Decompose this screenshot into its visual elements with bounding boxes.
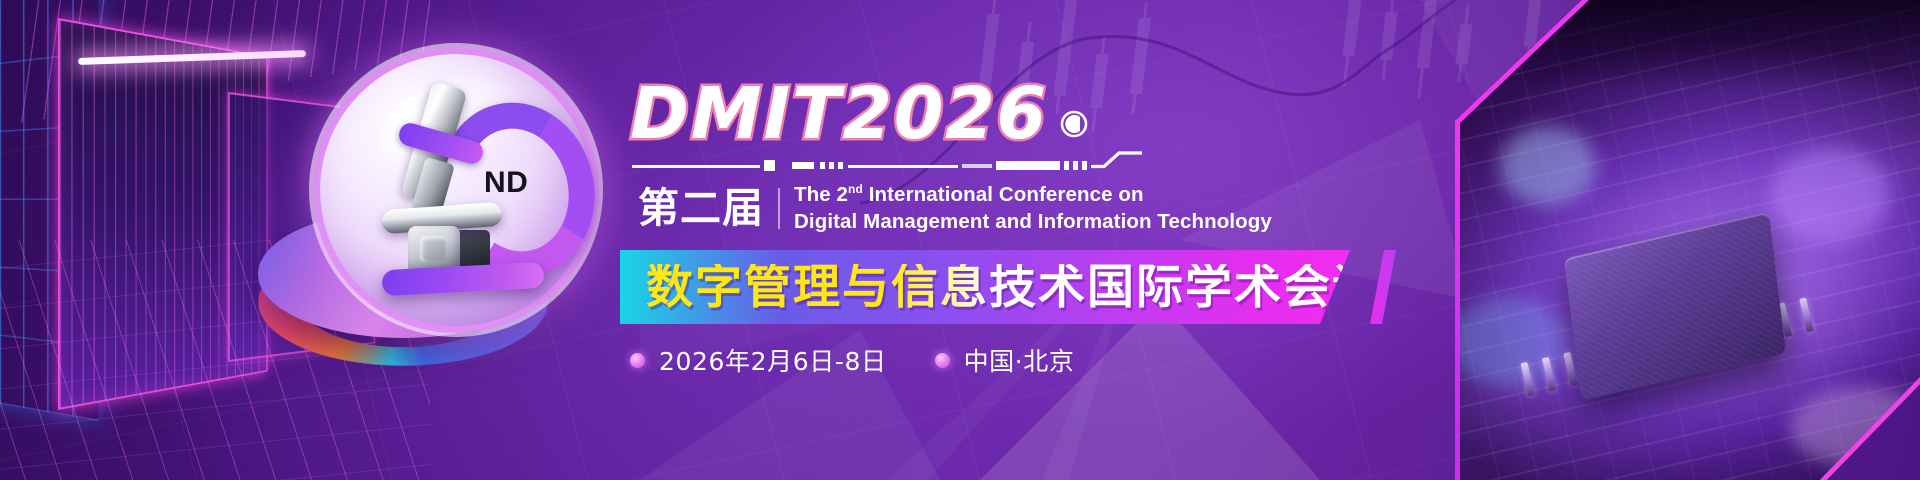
meta-item-date: 2026年2月6日-8日	[630, 342, 887, 378]
chinese-title-bar: 数字管理与信息技术国际学术会议	[620, 250, 1350, 324]
conference-date: 2026年2月6日-8日	[659, 342, 887, 378]
subtitle-line1-post: International Conference on	[863, 183, 1144, 206]
banner-content: DMIT 2026	[630, 0, 1450, 480]
banner-title-row: DMIT 2026	[630, 78, 1048, 149]
subtitle-line1: The 2nd International Conference on	[794, 183, 1144, 206]
hexagon-photo-frame	[1455, 0, 1920, 480]
microscope-base-icon	[381, 262, 544, 296]
subtitle-line2: Digital Management and Information Techn…	[794, 210, 1272, 233]
logo-badge-text: ND	[484, 166, 528, 200]
banner-meta-row: 2026年2月6日-8日 中国·北京	[630, 342, 1123, 378]
bullet-dot-icon	[935, 353, 950, 368]
conference-logo: ND	[296, 52, 596, 372]
title-acronym: DMIT	[630, 78, 842, 149]
meta-item-location: 中国·北京	[935, 342, 1075, 378]
subtitle-line1-pre: The 2	[794, 183, 848, 206]
photo-bokeh	[1500, 127, 1596, 205]
bullet-dot-icon	[630, 353, 645, 368]
chinese-title-bar-accent	[1370, 250, 1396, 324]
subtitle-english: The 2nd International Conference on Digi…	[794, 182, 1272, 235]
decorative-tech-line	[632, 148, 1142, 182]
title-year: 2026	[842, 78, 1048, 149]
circuit-board-image	[1460, 0, 1920, 480]
chinese-title-text: 数字管理与信息技术国际学术会议	[646, 264, 1381, 311]
banner-subtitle-row: 第二届 The 2nd International Conference on …	[638, 182, 1272, 235]
tech-line-node-icon	[1056, 106, 1092, 142]
conference-banner: ND DMIT 2026	[0, 0, 1920, 480]
microscope-clip-inner-icon	[420, 236, 446, 262]
logo-sphere: ND	[320, 54, 592, 326]
edition-label: 第二届	[638, 188, 780, 229]
conference-location: 中国·北京	[964, 342, 1075, 378]
ordinal-suffix: nd	[848, 182, 863, 196]
photo-bokeh	[1770, 147, 1890, 243]
